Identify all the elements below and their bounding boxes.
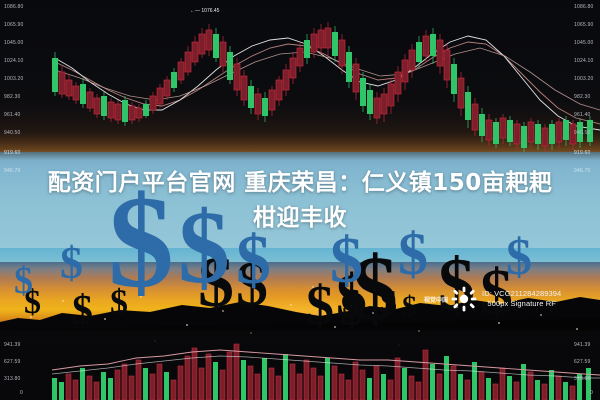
price-axis-right-label-4: 1003.20 [574, 76, 593, 82]
volume-axis-right-label-1: 627.59 [574, 359, 591, 365]
volume-axis-left-label-3: 0 [20, 390, 23, 396]
starburst-icon [451, 286, 477, 312]
price-axis-left-label-6: 961.40 [4, 112, 21, 118]
price-axis-left-label-7: 940.50 [4, 130, 21, 136]
price-axis-right-label-3: 1024.10 [574, 58, 593, 64]
price-axis-left-label-0: 1086.80 [4, 4, 23, 10]
volume-axis-left-label-2: 313.80 [4, 376, 21, 382]
volume-chart-svg [0, 330, 600, 400]
price-axis-right-label-1: 1065.90 [574, 22, 593, 28]
watermark-id: ID: VCG211284289394 [482, 289, 561, 299]
price-axis-right-label-2: 1045.00 [574, 40, 593, 46]
ma-extra-line [55, 48, 600, 110]
volume-axis-left-label-1: 627.59 [4, 359, 21, 365]
price-axis-left-label-2: 1045.00 [4, 40, 23, 46]
price-axis-right-label-7: 940.50 [574, 130, 591, 136]
volume-axis-right-label-2: 313.80 [574, 376, 591, 382]
headline-line-1: 配资门户平台官网 重庆荣昌：仁义镇150亩耙耙 [0, 166, 600, 201]
watermark: 视觉中国 ID: VCG211284289394 500px Signature… [424, 286, 561, 312]
volume-chart-panel: 941.39 627.59 313.80 0 941.39 627.59 313… [0, 330, 600, 400]
volume-axis-right-label-0: 941.39 [574, 342, 591, 348]
price-axis-left-label-5: 982.30 [4, 94, 21, 100]
candlestick-series [52, 22, 593, 152]
screenshot-root: $ $ $ $ $ $ $ $ $ $ $ $ $ $ $ $ $ $ $ $ … [0, 0, 600, 400]
headline: 配资门户平台官网 重庆荣昌：仁义镇150亩耙耙 柑迎丰收 [0, 166, 600, 236]
watermark-license: 500px Signature RF [482, 299, 561, 309]
watermark-brand-cn: 视觉中国 [424, 295, 448, 304]
price-axis-right-label-5: 982.30 [574, 94, 591, 100]
volume-axis-left-label-0: 941.39 [4, 342, 21, 348]
price-chart-svg [0, 0, 600, 160]
price-annotation: ←— 1076.45 [190, 8, 219, 14]
price-axis-left-label-3: 1024.10 [4, 58, 23, 64]
volume-axis-right-label-3: 0 [590, 390, 593, 396]
price-axis-left-label-4: 1003.20 [4, 76, 23, 82]
price-chart-panel: ←— 1076.45 1086.80 1065.90 1045.00 1024.… [0, 0, 600, 160]
volume-bars [52, 344, 591, 400]
price-axis-left-label-1: 1065.90 [4, 22, 23, 28]
price-axis-right-label-0: 1086.80 [574, 4, 593, 10]
price-axis-left-label-8: 919.60 [4, 150, 21, 156]
headline-line-2: 柑迎丰收 [0, 201, 600, 236]
price-axis-right-label-8: 919.60 [574, 150, 591, 156]
price-axis-right-label-6: 961.40 [574, 112, 591, 118]
